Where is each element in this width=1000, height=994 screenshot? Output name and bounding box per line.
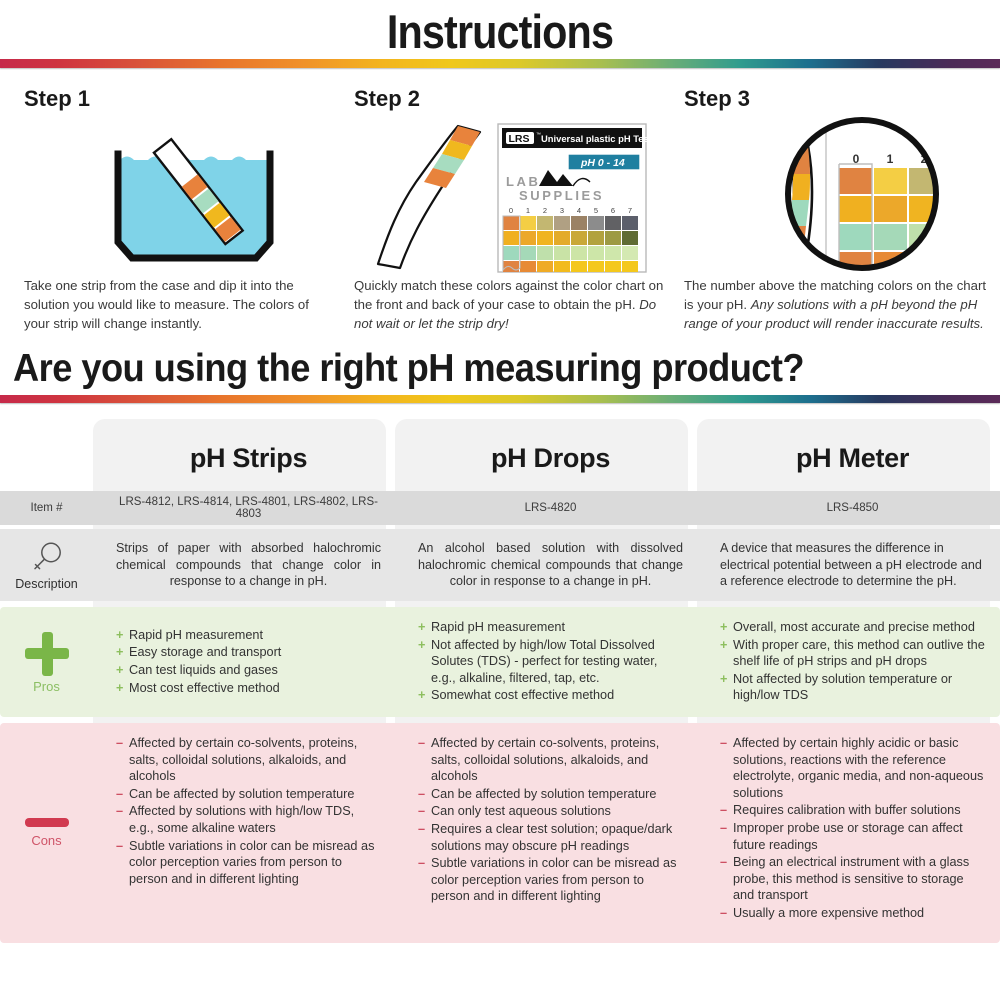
list-item: +Overall, most accurate and precise meth… bbox=[720, 619, 985, 636]
pros-list-ph-strips: +Rapid pH measurement+Easy storage and t… bbox=[116, 627, 281, 697]
item-number-ph-strips: LRS-4812, LRS-4814, LRS-4801, LRS-4802, … bbox=[102, 490, 395, 526]
svg-text:4: 4 bbox=[577, 206, 581, 215]
bullet-marker: – bbox=[418, 786, 425, 803]
bullet-marker: + bbox=[116, 680, 123, 697]
row-label-pros: Pros bbox=[0, 607, 93, 717]
list-item: –Can be affected by solution temperature bbox=[418, 786, 683, 803]
bullet-marker: – bbox=[418, 735, 425, 752]
magnified-chart-match-icon: 0 1 2 bbox=[684, 116, 994, 276]
bullet-marker: + bbox=[720, 637, 727, 654]
list-item: +Most cost effective method bbox=[116, 680, 281, 697]
svg-text:1: 1 bbox=[526, 206, 530, 215]
list-item: +Easy storage and transport bbox=[116, 644, 281, 661]
bullet-marker: + bbox=[418, 619, 425, 636]
plus-icon bbox=[24, 631, 70, 677]
page-title-question: Are you using the right pH measuring pro… bbox=[0, 345, 930, 391]
svg-text:7: 7 bbox=[628, 206, 632, 215]
description-ph-drops: An alcohol based solution with dissolved… bbox=[404, 529, 697, 601]
row-label-item-number: Item # bbox=[0, 502, 93, 514]
bullet-marker: – bbox=[418, 803, 425, 820]
bullet-marker: + bbox=[418, 687, 425, 704]
bullet-marker: – bbox=[116, 786, 123, 803]
step-3: Step 3 bbox=[674, 86, 1000, 333]
bullet-marker: – bbox=[116, 803, 123, 820]
list-item: –Affected by solutions with high/low TDS… bbox=[116, 803, 381, 836]
list-item: –Requires calibration with buffer soluti… bbox=[720, 802, 985, 819]
infographic-page: Instructions Step 1 bbox=[0, 0, 1000, 994]
bullet-marker: – bbox=[720, 820, 727, 837]
cons-ph-strips: –Affected by certain co-solvents, protei… bbox=[102, 723, 395, 943]
cons-list-ph-strips: –Affected by certain co-solvents, protei… bbox=[116, 735, 381, 887]
list-item: –Can be affected by solution temperature bbox=[116, 786, 381, 803]
list-item: +With proper care, this method can outli… bbox=[720, 637, 985, 670]
bullet-marker: – bbox=[116, 735, 123, 752]
pros-ph-meter: +Overall, most accurate and precise meth… bbox=[706, 607, 999, 717]
rainbow-divider-top bbox=[0, 59, 1000, 68]
list-item: –Can only test aqueous solutions bbox=[418, 803, 683, 820]
list-item: –Subtle variations in color can be misre… bbox=[116, 838, 381, 888]
table-header-row: pH Strips pH Drops pH Meter bbox=[0, 427, 1000, 489]
step-1-title: Step 1 bbox=[24, 86, 334, 112]
bullet-marker: – bbox=[116, 838, 123, 855]
section-header-comparison: Are you using the right pH measuring pro… bbox=[0, 345, 1000, 403]
svg-text:6: 6 bbox=[611, 206, 615, 215]
step-3-art: 0 1 2 bbox=[684, 116, 994, 266]
column-header-ph-meter[interactable]: pH Meter bbox=[706, 427, 999, 489]
bullet-marker: – bbox=[418, 855, 425, 872]
cons-ph-drops: –Affected by certain co-solvents, protei… bbox=[404, 723, 697, 943]
step-2-art: LRS ™ Universal plastic pH Test Strips p… bbox=[354, 116, 664, 266]
step-2-title: Step 2 bbox=[354, 86, 664, 112]
bullet-marker: + bbox=[720, 671, 727, 688]
row-label-cons: Cons bbox=[0, 723, 93, 943]
column-header-ph-strips[interactable]: pH Strips bbox=[102, 427, 395, 489]
list-item: +Somewhat cost effective method bbox=[418, 687, 683, 704]
svg-text:1: 1 bbox=[887, 152, 894, 166]
list-item: –Subtle variations in color can be misre… bbox=[418, 855, 683, 905]
cons-list-ph-drops: –Affected by certain co-solvents, protei… bbox=[418, 735, 683, 905]
rainbow-divider-bottom bbox=[0, 395, 1000, 403]
pros-ph-drops: +Rapid pH measurement+Not affected by hi… bbox=[404, 607, 697, 717]
strip-and-color-chart-icon: LRS ™ Universal plastic pH Test Strips p… bbox=[354, 116, 664, 276]
step-3-text: The number above the matching colors on … bbox=[684, 276, 994, 333]
step-2-text-plain: Quickly match these colors against the c… bbox=[354, 278, 663, 312]
list-item: –Requires a clear test solution; opaque/… bbox=[418, 821, 683, 854]
list-item: +Not affected by high/low Total Dissolve… bbox=[418, 637, 683, 687]
step-1-text: Take one strip from the case and dip it … bbox=[24, 276, 334, 333]
list-item: +Rapid pH measurement bbox=[116, 627, 281, 644]
bullet-marker: – bbox=[720, 735, 727, 752]
table-row-description: Description Strips of paper with absorbe… bbox=[0, 529, 1000, 601]
pros-ph-strips: +Rapid pH measurement+Easy storage and t… bbox=[102, 607, 395, 717]
step-2-text: Quickly match these colors against the c… bbox=[354, 276, 664, 333]
svg-text:SUPPLIES: SUPPLIES bbox=[519, 188, 604, 203]
bullet-marker: – bbox=[720, 905, 727, 922]
bullet-marker: + bbox=[116, 662, 123, 679]
list-item: –Usually a more expensive method bbox=[720, 905, 985, 922]
list-item: –Affected by certain highly acidic or ba… bbox=[720, 735, 985, 801]
pros-list-ph-drops: +Rapid pH measurement+Not affected by hi… bbox=[418, 619, 683, 705]
steps-row: Step 1 Ta bbox=[0, 68, 1000, 333]
step-2: Step 2 LRS ™ Universal plastic p bbox=[344, 86, 674, 333]
list-item: –Improper probe use or storage can affec… bbox=[720, 820, 985, 853]
list-item: +Rapid pH measurement bbox=[418, 619, 683, 636]
bullet-marker: – bbox=[720, 854, 727, 871]
svg-text:3: 3 bbox=[560, 206, 564, 215]
bullet-marker: + bbox=[116, 644, 123, 661]
step-3-title: Step 3 bbox=[684, 86, 994, 112]
column-header-ph-drops[interactable]: pH Drops bbox=[404, 427, 697, 489]
svg-text:0: 0 bbox=[509, 206, 513, 215]
svg-text:pH 0 - 14: pH 0 - 14 bbox=[580, 157, 625, 169]
list-item: +Can test liquids and gases bbox=[116, 662, 281, 679]
description-ph-strips: Strips of paper with absorbed halochromi… bbox=[102, 529, 395, 601]
bullet-marker: + bbox=[720, 619, 727, 636]
step-1-art bbox=[24, 116, 334, 266]
beaker-with-strip-icon bbox=[24, 116, 334, 266]
cons-ph-meter: –Affected by certain highly acidic or ba… bbox=[706, 723, 999, 943]
description-ph-meter: A device that measures the difference in… bbox=[706, 529, 999, 601]
svg-text:LRS: LRS bbox=[509, 133, 530, 145]
table-row-cons: Cons –Affected by certain co-solvents, p… bbox=[0, 723, 1000, 943]
svg-text:5: 5 bbox=[594, 206, 598, 215]
svg-text:LAB: LAB bbox=[506, 174, 541, 189]
magnifying-glass-icon bbox=[30, 540, 64, 574]
bullet-marker: + bbox=[116, 627, 123, 644]
step-1: Step 1 Ta bbox=[14, 86, 344, 333]
list-item: –Affected by certain co-solvents, protei… bbox=[116, 735, 381, 785]
row-label-description: Description bbox=[0, 529, 93, 601]
bullet-marker: – bbox=[418, 821, 425, 838]
header-row-label-spacer bbox=[0, 427, 93, 489]
bullet-marker: + bbox=[418, 637, 425, 654]
table-row-pros: Pros +Rapid pH measurement+Easy storage … bbox=[0, 607, 1000, 717]
list-item: –Affected by certain co-solvents, protei… bbox=[418, 735, 683, 785]
svg-text:2: 2 bbox=[543, 206, 547, 215]
list-item: +Not affected by solution temperature or… bbox=[720, 671, 985, 704]
list-item: –Being an electrical instrument with a g… bbox=[720, 854, 985, 904]
page-title-instructions: Instructions bbox=[60, 0, 940, 59]
svg-text:Universal plastic pH Test Stri: Universal plastic pH Test Strips bbox=[541, 133, 664, 144]
item-number-ph-drops: LRS-4820 bbox=[404, 496, 697, 520]
item-number-ph-meter: LRS-4850 bbox=[706, 496, 999, 520]
comparison-table: pH Strips pH Drops pH Meter Item # LRS-4… bbox=[0, 411, 1000, 951]
minus-icon bbox=[25, 818, 69, 827]
bullet-marker: – bbox=[720, 802, 727, 819]
table-row-item-number: Item # LRS-4812, LRS-4814, LRS-4801, LRS… bbox=[0, 491, 1000, 525]
cons-list-ph-meter: –Affected by certain highly acidic or ba… bbox=[720, 735, 985, 922]
pros-list-ph-meter: +Overall, most accurate and precise meth… bbox=[720, 619, 985, 705]
